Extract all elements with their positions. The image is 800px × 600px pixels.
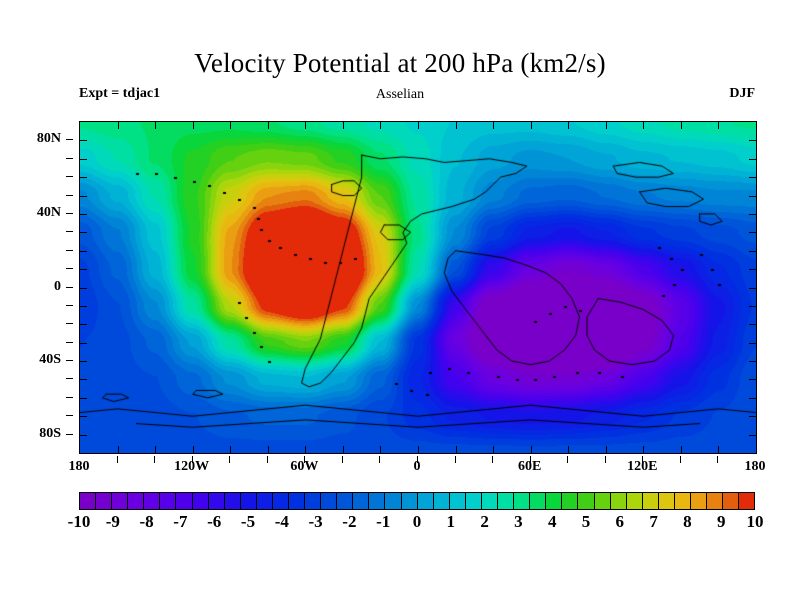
colorbar-tick-label: 9 [717,512,726,532]
frame-tick [493,122,494,129]
frame-tick [268,446,269,453]
colorbar-cell [418,493,434,509]
frame-tick [80,288,87,289]
frame-tick [493,446,494,453]
frame-tick [343,446,344,453]
frame-tick [749,324,756,325]
colorbar-cell [353,493,369,509]
colorbar-cell [675,493,691,509]
colorbar-tick-label: -7 [173,512,187,532]
figure-root: Velocity Potential at 200 hPa (km2/s) Ex… [0,0,800,600]
frame-tick [80,416,87,417]
colorbar-cell [546,493,562,509]
y-axis-tick [66,397,73,398]
frame-tick [749,269,756,270]
colorbar-tick-label: 8 [683,512,692,532]
colorbar [79,492,755,510]
colorbar-cell [402,493,418,509]
x-axis-label: 120E [627,459,657,475]
colorbar-cell [225,493,241,509]
x-axis-label: 180 [745,459,766,475]
frame-tick [681,122,682,129]
frame-tick [80,306,87,307]
frame-tick [305,122,306,129]
frame-tick [418,446,419,453]
y-axis-tick [66,195,73,196]
frame-tick [80,251,87,252]
y-axis-label: 40S [39,352,61,368]
colorbar-cell [128,493,144,509]
colorbar-tick-label: -6 [207,512,221,532]
frame-tick [749,379,756,380]
x-axis-tick [229,456,230,463]
y-axis-tick [66,342,73,343]
colorbar-cell [321,493,337,509]
colorbar-cell [562,493,578,509]
colorbar-cell [514,493,530,509]
x-axis-tick [455,456,456,463]
colorbar-cell [707,493,723,509]
y-axis-tick [66,158,73,159]
colorbar-tick-label: -8 [140,512,154,532]
frame-tick [80,140,87,141]
colorbar-cell [96,493,112,509]
colorbar-cell [739,493,754,509]
frame-tick [80,214,87,215]
colorbar-tick-label: 4 [548,512,557,532]
x-axis-tick [717,456,718,463]
frame-tick [456,446,457,453]
page-title: Velocity Potential at 200 hPa (km2/s) [0,48,800,79]
colorbar-cell [160,493,176,509]
contour-plot-area [79,121,757,454]
colorbar-cell [723,493,739,509]
frame-tick [80,379,87,380]
colorbar-tick-label: -1 [376,512,390,532]
subtitle-label: Asselian [0,87,800,103]
colorbar-cell [193,493,209,509]
colorbar-cell [176,493,192,509]
x-axis-tick [492,456,493,463]
frame-tick [343,122,344,129]
frame-tick [118,122,119,129]
frame-tick [80,343,87,344]
frame-tick [230,122,231,129]
colorbar-tick-label: -10 [68,512,91,532]
x-axis-label: 60W [290,459,318,475]
colorbar-cell [273,493,289,509]
frame-tick [456,122,457,129]
colorbar-cell [112,493,128,509]
frame-tick [380,122,381,129]
y-axis-tick [66,268,73,269]
colorbar-cell [450,493,466,509]
frame-tick [80,398,87,399]
y-axis-tick [66,231,73,232]
colorbar-cell [611,493,627,509]
y-axis: 80N40N040S80S [0,121,73,452]
x-axis-tick [154,456,155,463]
frame-tick [80,159,87,160]
colorbar-cell [337,493,353,509]
colorbar-cell [530,493,546,509]
y-axis-tick [66,434,73,435]
frame-tick [531,122,532,129]
x-axis-tick [117,456,118,463]
frame-tick [268,122,269,129]
y-axis-label: 40N [37,205,61,221]
y-axis-label: 0 [54,279,61,295]
colorbar-tick-label: -5 [241,512,255,532]
frame-tick [749,343,756,344]
colorbar-tick-label: -9 [106,512,120,532]
colorbar-tick-label: 7 [649,512,658,532]
colorbar-tick-label: 1 [447,512,456,532]
frame-tick [718,122,719,129]
colorbar-tick-label: 3 [514,512,523,532]
frame-tick [749,288,756,289]
y-axis-tick [66,323,73,324]
velocity-potential-field [80,122,756,453]
colorbar-cell [482,493,498,509]
colorbar-tick-label: -2 [342,512,356,532]
colorbar-tick-label: 6 [616,512,625,532]
frame-tick [568,446,569,453]
frame-tick [749,177,756,178]
frame-tick [681,446,682,453]
frame-tick [568,122,569,129]
frame-tick [418,122,419,129]
y-axis-tick [66,378,73,379]
y-axis-tick [66,250,73,251]
colorbar-cell [595,493,611,509]
frame-tick [193,122,194,129]
frame-tick [80,361,87,362]
frame-tick [606,446,607,453]
frame-tick [118,446,119,453]
x-axis-tick [379,456,380,463]
frame-tick [80,232,87,233]
colorbar-cell [659,493,675,509]
frame-tick [193,446,194,453]
colorbar-tick-label: 10 [747,512,764,532]
colorbar-tick-labels: -10-9-8-7-6-5-4-3-2-1012345678910 [79,512,755,538]
colorbar-cell [305,493,321,509]
frame-tick [643,122,644,129]
frame-tick [643,446,644,453]
colorbar-cell [643,493,659,509]
frame-tick [80,435,87,436]
colorbar-tick-label: 2 [480,512,489,532]
x-axis-tick [342,456,343,463]
frame-tick [606,122,607,129]
frame-tick [718,446,719,453]
colorbar-tick-label: 5 [582,512,591,532]
frame-tick [380,446,381,453]
x-axis: 180120W60W060E120E180 [79,456,755,478]
frame-tick [749,196,756,197]
x-axis-label: 120W [174,459,209,475]
y-axis-label: 80N [37,131,61,147]
frame-tick [80,324,87,325]
x-axis-label: 0 [414,459,421,475]
x-axis-tick [680,456,681,463]
frame-tick [749,251,756,252]
colorbar-cell [434,493,450,509]
frame-tick [749,435,756,436]
frame-tick [531,446,532,453]
colorbar-cell [627,493,643,509]
x-axis-label: 60E [518,459,541,475]
colorbar-cell [257,493,273,509]
frame-tick [155,446,156,453]
colorbar-cell [144,493,160,509]
colorbar-cell [369,493,385,509]
y-axis-tick [66,139,73,140]
frame-tick [80,269,87,270]
y-axis-tick [66,415,73,416]
x-axis-tick [267,456,268,463]
season-label: DJF [729,86,755,102]
colorbar-cell [241,493,257,509]
colorbar-tick-label: -3 [309,512,323,532]
colorbar-cell [209,493,225,509]
colorbar-cell [578,493,594,509]
frame-tick [749,361,756,362]
frame-tick [749,159,756,160]
frame-tick [155,122,156,129]
x-axis-label: 180 [69,459,90,475]
y-axis-tick [66,176,73,177]
colorbar-cell [691,493,707,509]
colorbar-cell [498,493,514,509]
y-axis-tick [66,305,73,306]
colorbar-tick-label: 0 [413,512,422,532]
frame-tick [749,416,756,417]
colorbar-cell [385,493,401,509]
colorbar-cell [289,493,305,509]
frame-tick [80,196,87,197]
frame-tick [749,232,756,233]
x-axis-tick [605,456,606,463]
frame-tick [230,446,231,453]
y-axis-tick [66,287,73,288]
frame-tick [749,140,756,141]
frame-tick [305,446,306,453]
y-axis-tick [66,360,73,361]
y-axis-tick [66,213,73,214]
y-axis-label: 80S [39,426,61,442]
frame-tick [80,177,87,178]
colorbar-cell [466,493,482,509]
frame-tick [749,214,756,215]
colorbar-tick-label: -4 [275,512,289,532]
x-axis-tick [567,456,568,463]
frame-tick [749,306,756,307]
colorbar-cell [80,493,96,509]
frame-tick [749,398,756,399]
